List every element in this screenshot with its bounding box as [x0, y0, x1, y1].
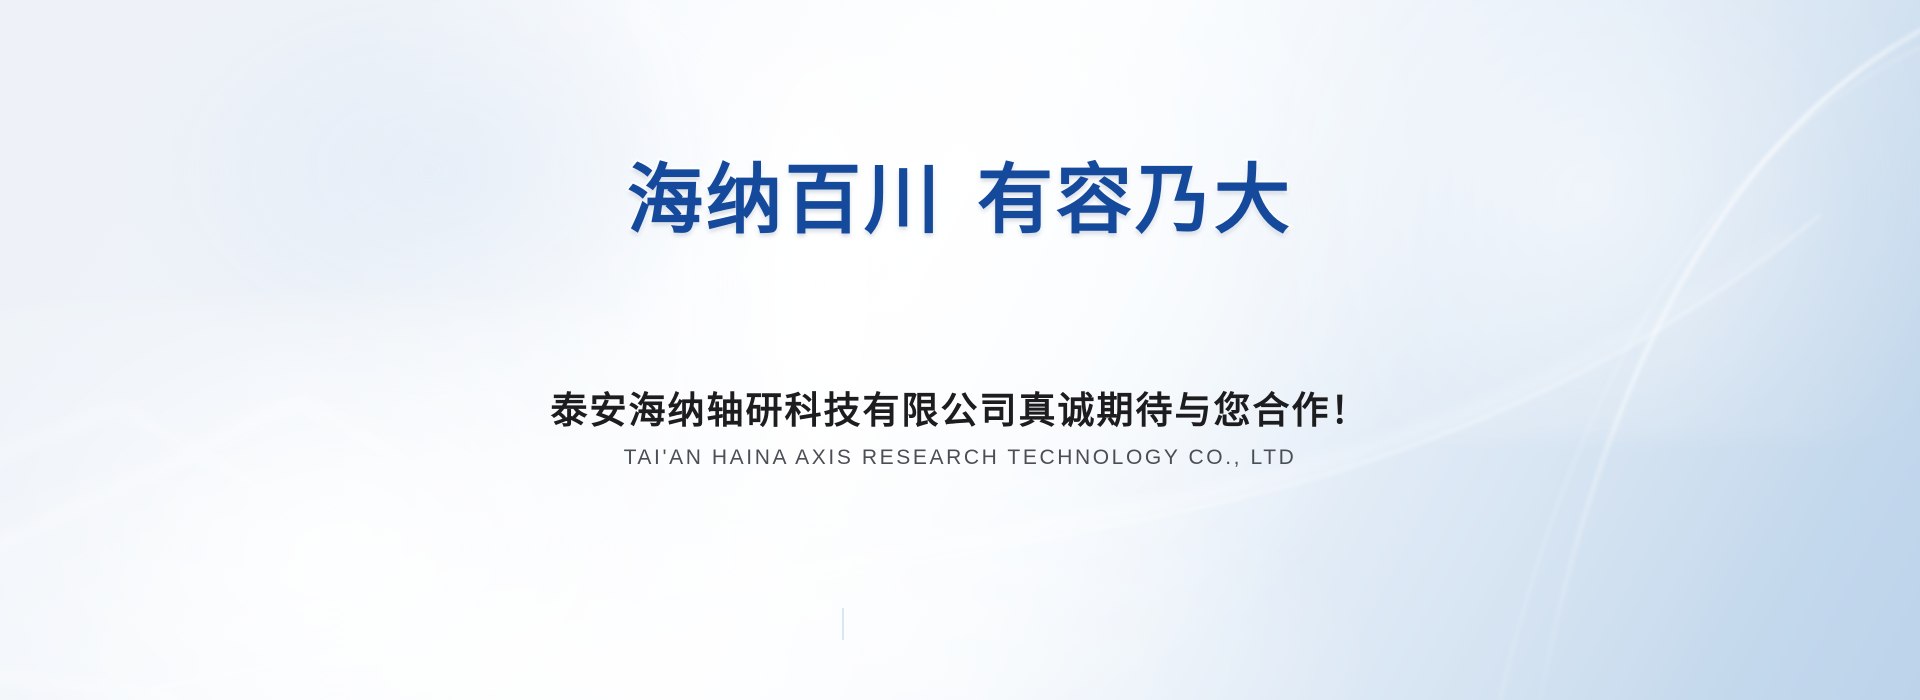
subtitle-chinese: 泰安海纳轴研科技有限公司真诚期待与您合作！	[0, 388, 1920, 434]
headline-segment-2: 有容乃大	[977, 158, 1293, 243]
banner-content: 海纳百川有容乃大 泰安海纳轴研科技有限公司真诚期待与您合作！ TAI'AN HA…	[0, 0, 1920, 700]
page-title: 海纳百川有容乃大	[0, 160, 1920, 242]
headline-segment-1: 海纳百川	[627, 158, 943, 243]
hero-banner: 海纳百川有容乃大 泰安海纳轴研科技有限公司真诚期待与您合作！ TAI'AN HA…	[0, 0, 1920, 700]
subtitle-english: TAI'AN HAINA AXIS RESEARCH TECHNOLOGY CO…	[0, 444, 1920, 471]
